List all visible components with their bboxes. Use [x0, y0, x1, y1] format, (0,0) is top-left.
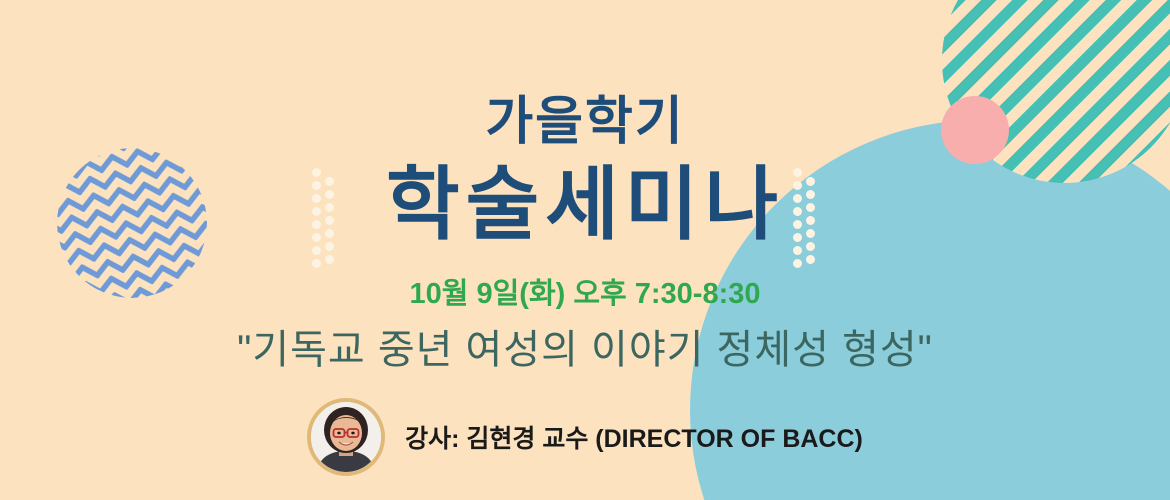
seminar-topic: "기독교 중년 여성의 이야기 정체성 형성": [0, 326, 1170, 374]
speaker-name-label: 강사: 김현경 교수 (DIRECTOR OF BACC): [405, 419, 863, 455]
event-datetime: 10월 9일(화) 오후 7:30-8:30: [0, 280, 1170, 309]
speaker-row: 강사: 김현경 교수 (DIRECTOR OF BACC): [0, 398, 1170, 476]
speaker-portrait: [307, 398, 385, 476]
page-title: 학술세미나: [0, 165, 1170, 245]
season-label: 가을학기: [0, 96, 1170, 148]
seminar-banner: 가을학기 학술세미나 10월 9일(화) 오후 7:30-8:30 "기독교 중…: [0, 0, 1170, 500]
